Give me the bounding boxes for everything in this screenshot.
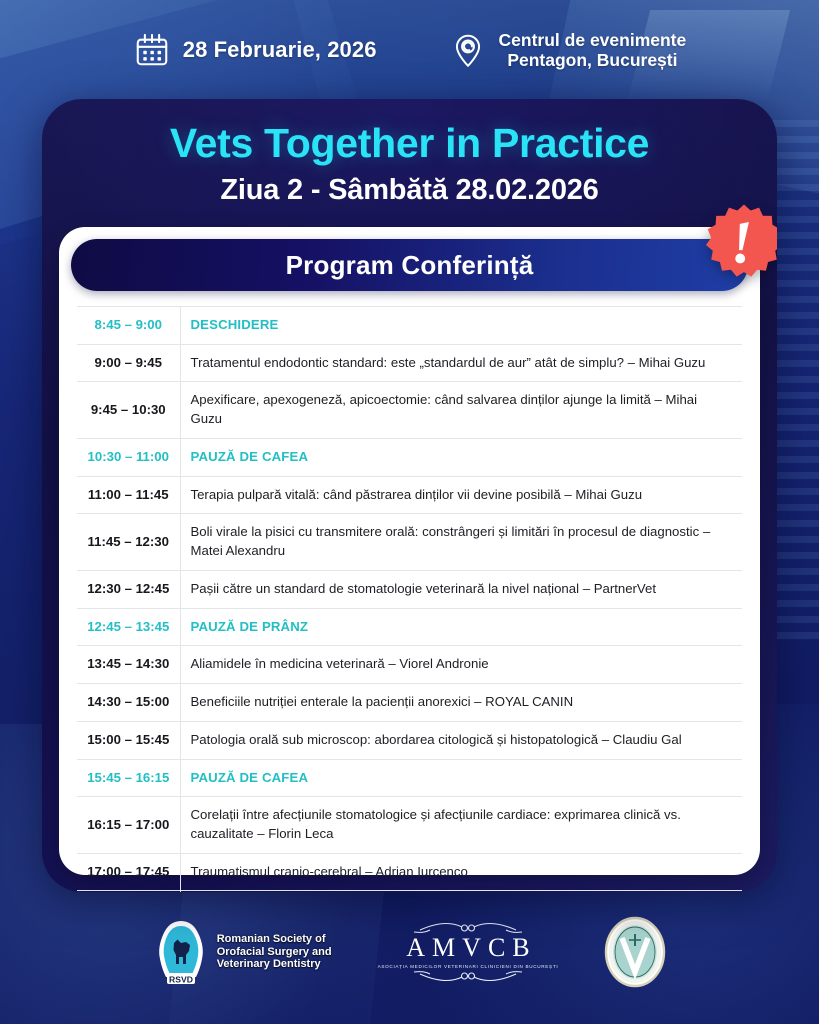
schedule-row: 17:00 – 17:45Traumatismul cranio-cerebra… [77, 853, 742, 891]
program-banner: Program Conferință [71, 239, 748, 291]
schedule-row-time: 15:45 – 16:15 [77, 759, 180, 797]
event-title: Vets Together in Practice [42, 121, 777, 167]
svg-text:RSVD: RSVD [169, 974, 193, 984]
veterinary-seal-logo [604, 916, 666, 988]
schedule-row: 8:45 – 9:00DESCHIDERE [77, 307, 742, 345]
schedule-row: 12:30 – 12:45Pașii către un standard de … [77, 570, 742, 608]
footer-logos: RSVD Romanian Society of Orofacial Surge… [0, 906, 819, 998]
schedule-row: 9:45 – 10:30Apexificare, apexogeneză, ap… [77, 382, 742, 438]
schedule-row-time: 11:45 – 12:30 [77, 514, 180, 570]
schedule-row-description: Pașii către un standard de stomatologie … [180, 570, 742, 608]
schedule-row: 15:00 – 15:45Patologia orală sub microsc… [77, 721, 742, 759]
schedule-row-time: 14:30 – 15:00 [77, 684, 180, 722]
conference-program-poster: 28 Februarie, 2026 Centrul de evenimente… [0, 0, 819, 1024]
program-panel: Vets Together in Practice Ziua 2 - Sâmbă… [42, 99, 777, 892]
schedule-row-description: PAUZĂ DE CAFEA [180, 759, 742, 797]
schedule-row: 12:45 – 13:45PAUZĂ DE PRÂNZ [77, 608, 742, 646]
schedule-row-time: 17:00 – 17:45 [77, 853, 180, 891]
event-subtitle: Ziua 2 - Sâmbătă 28.02.2026 [42, 174, 777, 207]
calendar-icon [133, 31, 171, 69]
schedule-row: 9:00 – 9:45Tratamentul endodontic standa… [77, 344, 742, 382]
venue-line-2: Pentagon, București [499, 50, 687, 70]
rsvd-line-3: Veterinary Dentistry [217, 958, 332, 971]
schedule-row-description: Apexificare, apexogeneză, apicoectomie: … [180, 382, 742, 438]
location-pin-icon [449, 31, 487, 69]
amvcb-flourish-bottom-icon [408, 969, 528, 983]
schedule-row-time: 13:45 – 14:30 [77, 646, 180, 684]
schedule-row-time: 11:00 – 11:45 [77, 476, 180, 514]
event-date-text: 28 Februarie, 2026 [183, 37, 377, 63]
schedule-row-description: Traumatismul cranio-cerebral – Adrian Iu… [180, 853, 742, 891]
schedule-row-description: Tratamentul endodontic standard: este „s… [180, 344, 742, 382]
event-venue-text: Centrul de evenimente Pentagon, Bucureșt… [499, 30, 687, 70]
schedule-row-time: 17:45 – 18:00 [77, 891, 180, 892]
schedule-row-description: Aliamidele în medicina veterinară – Vior… [180, 646, 742, 684]
amvcb-wordmark: AMVCB [399, 935, 536, 961]
schedule-row-description: Patologia orală sub microscop: abordarea… [180, 721, 742, 759]
schedule-row: 11:45 – 12:30Boli virale la pisici cu tr… [77, 514, 742, 570]
rsvd-line-2: Orofacial Surgery and [217, 946, 332, 959]
schedule-row-description: Terapia pulpară vitală: când păstrarea d… [180, 476, 742, 514]
event-venue-group: Centrul de evenimente Pentagon, Bucureșt… [449, 30, 687, 70]
schedule-row-time: 10:30 – 11:00 [77, 438, 180, 476]
schedule-row: 15:45 – 16:15PAUZĂ DE CAFEA [77, 759, 742, 797]
schedule-row-description: PAUZĂ DE PRÂNZ [180, 608, 742, 646]
amvcb-logo: AMVCB ASOCIAȚIA MEDICILOR VETERINARI CLI… [378, 921, 559, 983]
schedule-row-description: Beneficiile nutriției enterale la pacien… [180, 684, 742, 722]
rsvd-logo-text: Romanian Society of Orofacial Surgery an… [217, 933, 332, 971]
schedule-row: 14:30 – 15:00Beneficiile nutriției enter… [77, 684, 742, 722]
schedule-row-time: 8:45 – 9:00 [77, 307, 180, 345]
rsvd-line-1: Romanian Society of [217, 933, 332, 946]
schedule-row: 10:30 – 11:00PAUZĂ DE CAFEA [77, 438, 742, 476]
schedule-row-time: 9:00 – 9:45 [77, 344, 180, 382]
schedule-row: 13:45 – 14:30Aliamidele în medicina vete… [77, 646, 742, 684]
schedule-row: 16:15 – 17:00Corelații între afecțiunile… [77, 797, 742, 853]
schedule-row-description: DESCHIDERE [180, 307, 742, 345]
schedule-table: 8:45 – 9:00DESCHIDERE9:00 – 9:45Tratamen… [77, 306, 742, 892]
schedule-row-time: 16:15 – 17:00 [77, 797, 180, 853]
schedule-row-time: 15:00 – 15:45 [77, 721, 180, 759]
schedule-row-description: Boli virale la pisici cu transmitere ora… [180, 514, 742, 570]
schedule-card: Program Conferință 8:45 – 9:00DESCHIDERE… [59, 227, 760, 875]
schedule-row: 17:45 – 18:00Discuții [77, 891, 742, 892]
schedule-row-time: 9:45 – 10:30 [77, 382, 180, 438]
schedule-row: 11:00 – 11:45Terapia pulpară vitală: cân… [77, 476, 742, 514]
schedule-row-description: Corelații între afecțiunile stomatologic… [180, 797, 742, 853]
schedule-row-time: 12:30 – 12:45 [77, 570, 180, 608]
event-date-group: 28 Februarie, 2026 [133, 31, 377, 69]
schedule-table-body: 8:45 – 9:00DESCHIDERE9:00 – 9:45Tratamen… [77, 307, 742, 893]
schedule-row-description: Discuții [180, 891, 742, 892]
veterinary-seal-icon [604, 916, 666, 988]
venue-line-1: Centrul de evenimente [499, 30, 687, 50]
poster-header: 28 Februarie, 2026 Centrul de evenimente… [0, 0, 819, 100]
alert-exclamation-badge-icon [706, 203, 777, 279]
rsvd-emblem-icon: RSVD [153, 919, 209, 985]
schedule-row-description: PAUZĂ DE CAFEA [180, 438, 742, 476]
schedule-row-time: 12:45 – 13:45 [77, 608, 180, 646]
hero-title-block: Vets Together in Practice Ziua 2 - Sâmbă… [42, 99, 777, 207]
rsvd-logo: RSVD Romanian Society of Orofacial Surge… [153, 919, 332, 985]
program-banner-label: Program Conferință [286, 250, 534, 281]
